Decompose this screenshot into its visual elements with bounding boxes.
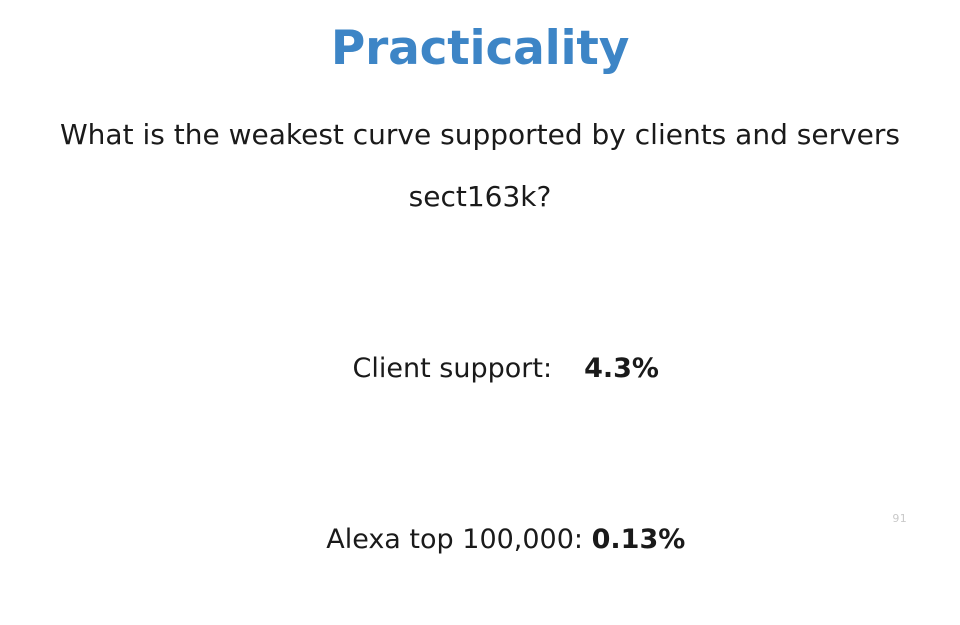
question-line-1: What is the weakest curve supported by c…: [0, 104, 960, 166]
page-number: 91: [892, 512, 907, 525]
question-line-2: sect163k?: [0, 166, 960, 228]
page-title: Practicality: [0, 22, 960, 76]
stats-block: Client support:4.3% Alexa top 100,000: 0…: [0, 283, 960, 625]
question-block: What is the weakest curve supported by c…: [0, 104, 960, 228]
stat-row-client-support: Client support:4.3%: [0, 283, 960, 454]
slide-canvas: Practicality What is the weakest curve s…: [0, 0, 960, 540]
stat-value-client-support: 4.3%: [584, 353, 659, 384]
stat-label-client-support: Client support:: [353, 353, 553, 384]
